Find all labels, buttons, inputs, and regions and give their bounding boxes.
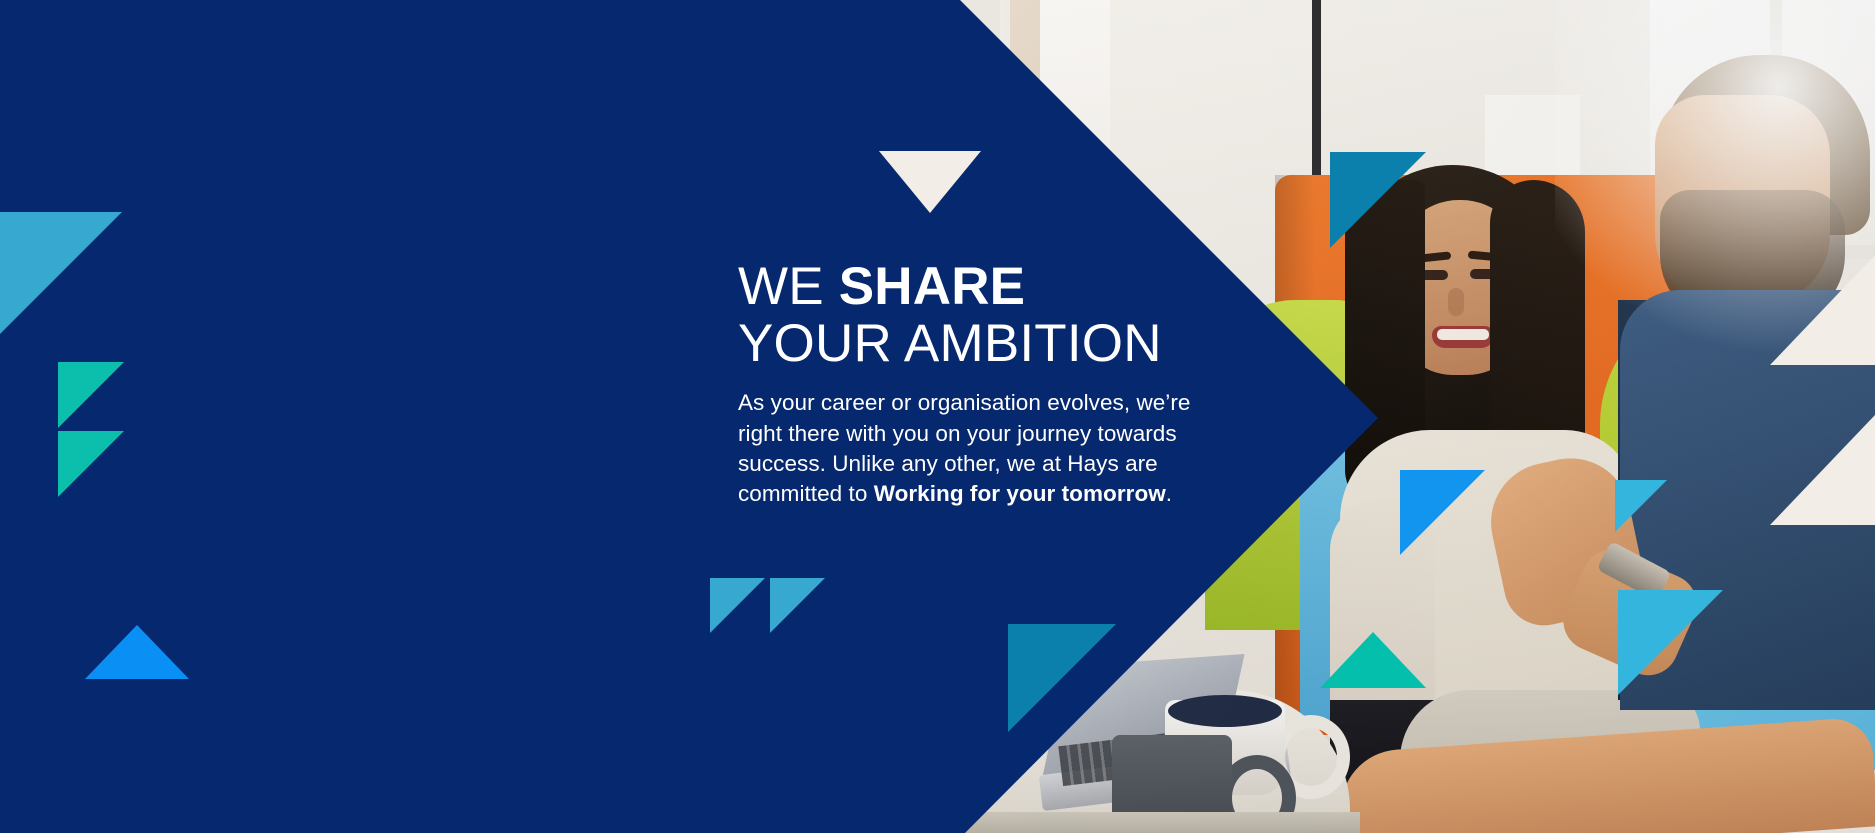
triangle-steel-blue-photo-top: [1330, 152, 1426, 248]
triangle-cream-right-lower: [1770, 415, 1875, 525]
triangle-light-blue-top-left: [0, 212, 122, 334]
triangle-bright-blue-sweater: [1400, 470, 1485, 555]
hero-copy-block: WE SHARE YOUR AMBITION As your career or…: [738, 258, 1208, 509]
hero-bodycopy: As your career or organisation evolves, …: [738, 388, 1208, 509]
triangle-light-blue-small: [1615, 480, 1667, 532]
bodycopy-tagline: Working for your tomorrow: [874, 481, 1166, 506]
triangle-cream-down-arrow: [879, 151, 981, 213]
bodycopy-period: .: [1166, 481, 1172, 506]
headline-line-1: WE SHARE: [738, 257, 1025, 316]
triangle-teal-stack-lower: [58, 431, 124, 497]
triangle-cream-right-upper: [1770, 255, 1875, 365]
hero-banner: WE SHARE YOUR AMBITION As your career or…: [0, 0, 1875, 833]
triangle-light-blue-pair-right: [770, 578, 825, 633]
triangle-bright-blue-up-arrow: [85, 625, 189, 679]
triangle-teal-stack-upper: [58, 362, 124, 428]
triangle-light-blue-pair-left: [710, 578, 765, 633]
triangle-light-blue-photo-right: [1618, 590, 1723, 695]
headline-share: SHARE: [839, 257, 1026, 316]
hero-headline: WE SHARE YOUR AMBITION: [738, 258, 1208, 372]
triangle-teal-up-photo: [1320, 632, 1426, 688]
headline-we: WE: [738, 257, 839, 316]
triangle-steel-blue-large: [1008, 624, 1116, 732]
headline-line-2: YOUR AMBITION: [738, 314, 1162, 373]
